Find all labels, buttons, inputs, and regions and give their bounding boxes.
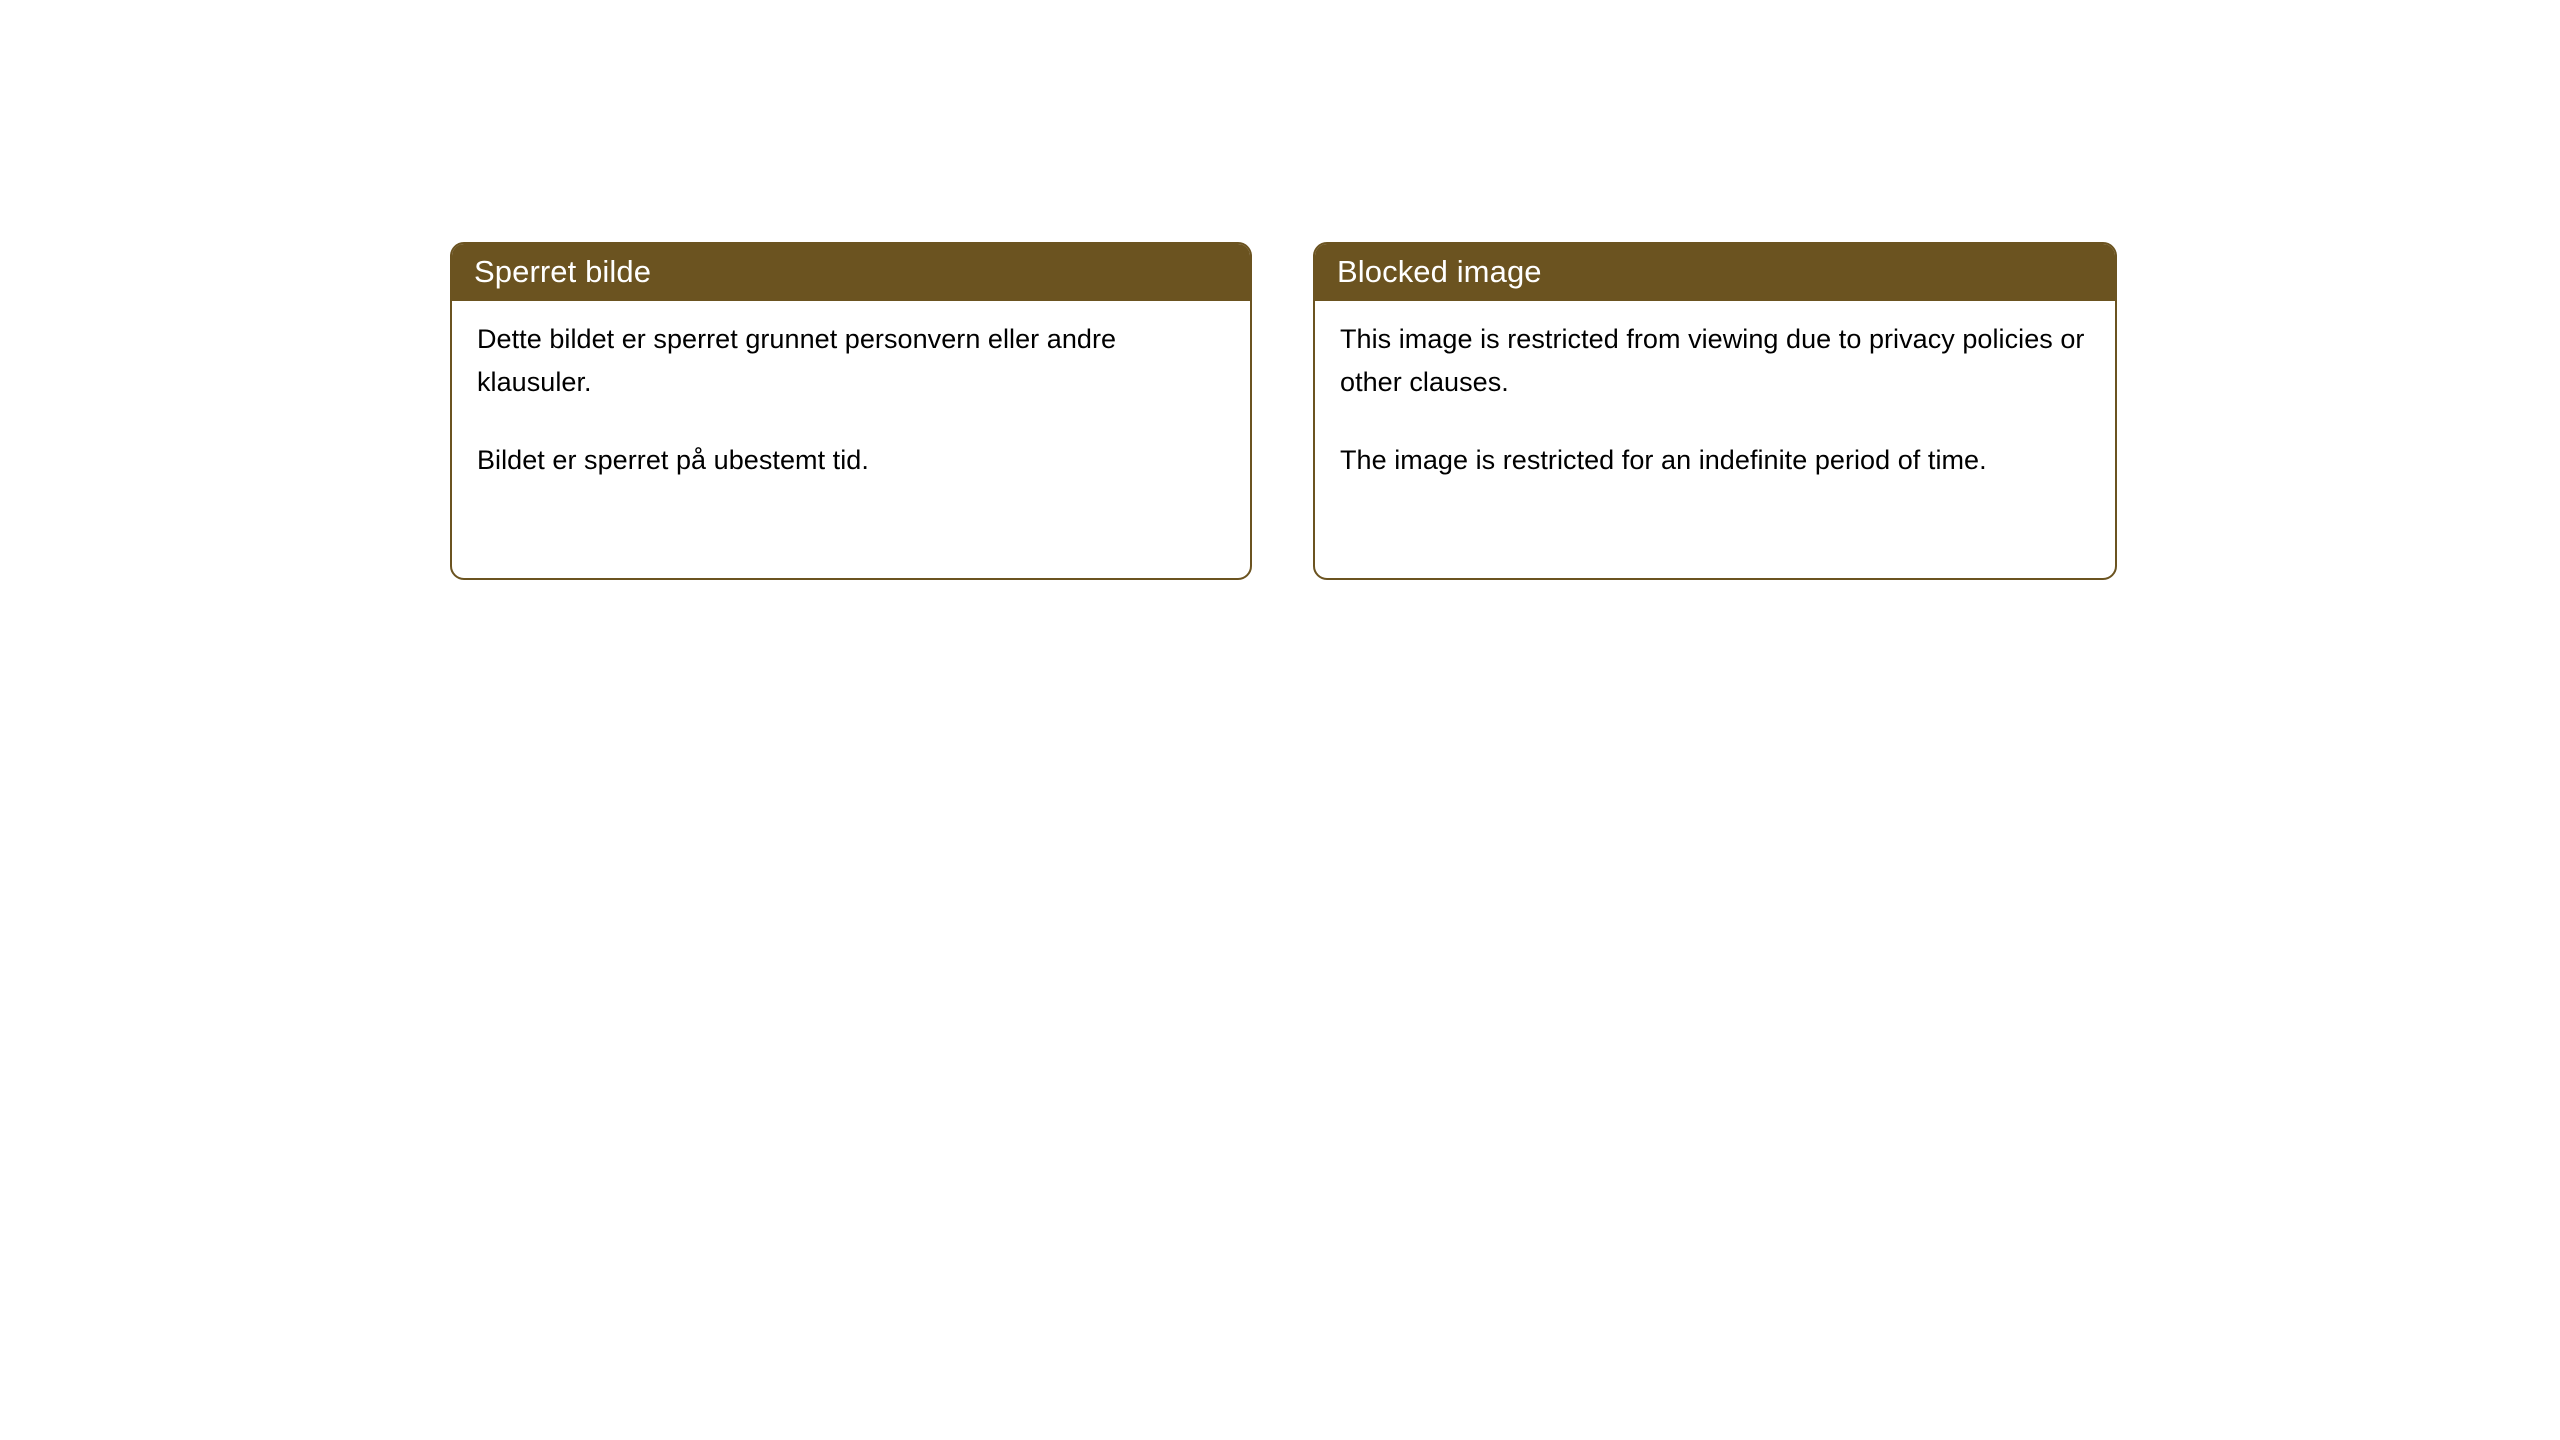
notice-body-no: Dette bildet er sperret grunnet personve…: [452, 301, 1250, 482]
notice-paragraph: This image is restricted from viewing du…: [1340, 318, 2091, 404]
blocked-image-notice-en: Blocked image This image is restricted f…: [1313, 242, 2117, 580]
notice-paragraph: Dette bildet er sperret grunnet personve…: [477, 318, 1226, 404]
blocked-image-notice-no: Sperret bilde Dette bildet er sperret gr…: [450, 242, 1252, 580]
notice-header-en: Blocked image: [1313, 242, 2117, 301]
notice-paragraph: The image is restricted for an indefinit…: [1340, 439, 2091, 482]
notice-body-en: This image is restricted from viewing du…: [1315, 301, 2115, 482]
notice-title-en: Blocked image: [1337, 254, 1542, 290]
page-canvas: Sperret bilde Dette bildet er sperret gr…: [0, 0, 2560, 1440]
notice-title-no: Sperret bilde: [474, 254, 651, 290]
notice-paragraph: Bildet er sperret på ubestemt tid.: [477, 439, 1226, 482]
notice-header-no: Sperret bilde: [450, 242, 1252, 301]
